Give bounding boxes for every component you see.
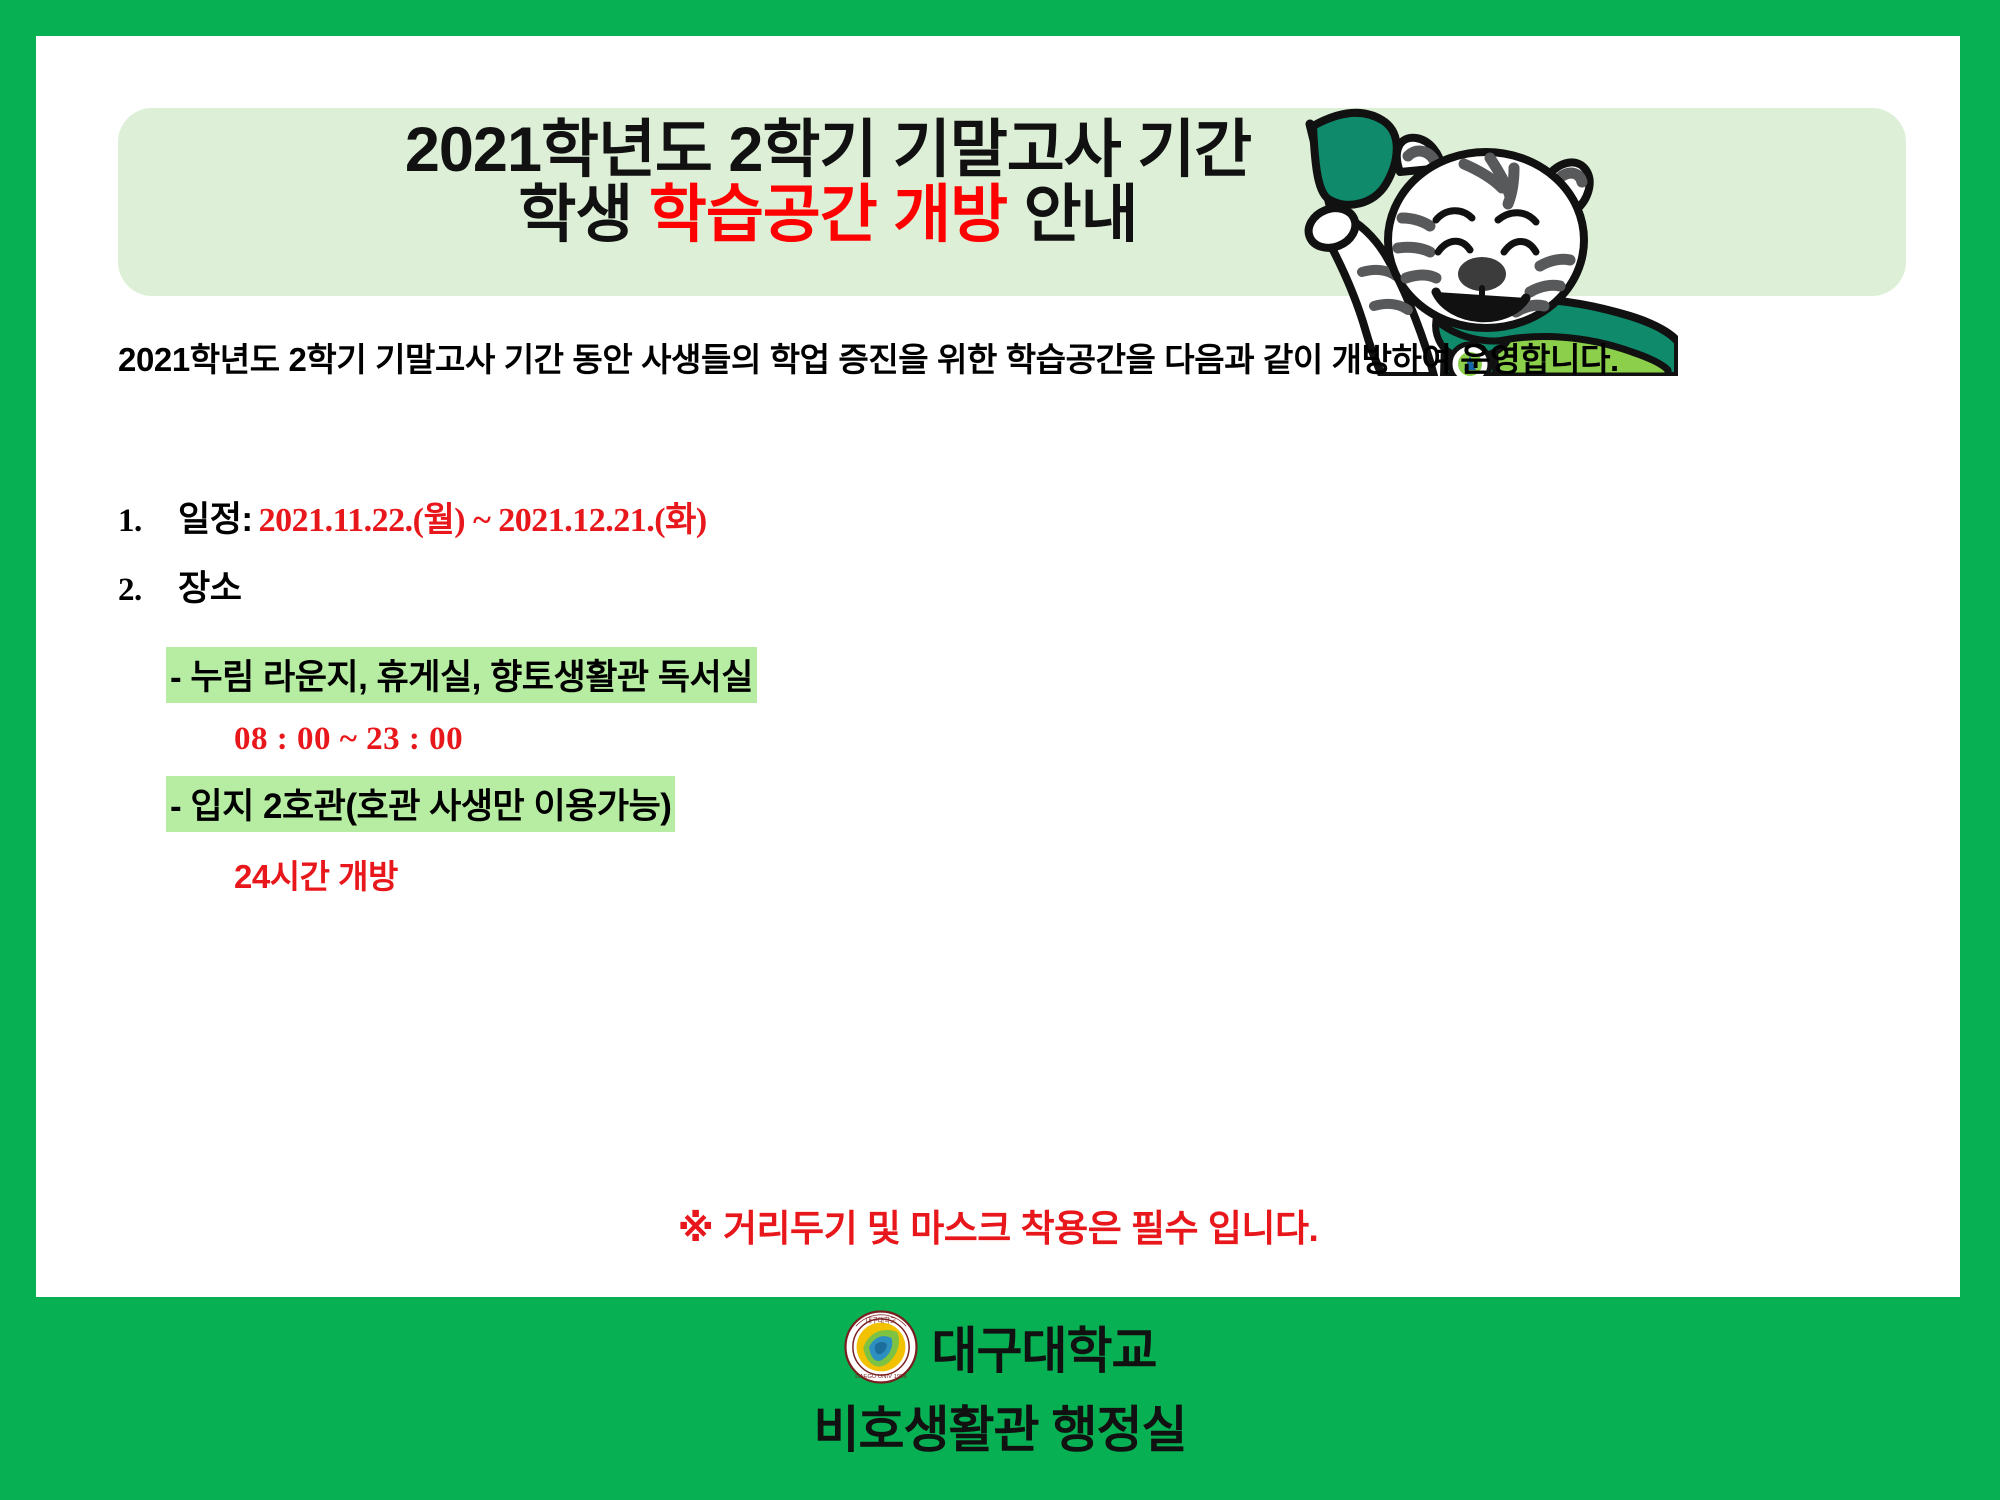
- schedule-label: 일정:: [178, 491, 253, 542]
- title-line-2-suffix: 안내: [1007, 180, 1137, 250]
- title-text-block: 2021학년도 2학기 기말고사 기간 학생 학습공간 개방 안내: [118, 118, 1538, 248]
- poster-root: 2021학년도 2학기 기말고사 기간 학생 학습공간 개방 안내: [0, 0, 2000, 1500]
- content-panel: 2021학년도 2학기 기말고사 기간 학생 학습공간 개방 안내: [36, 36, 1960, 1297]
- daegu-university-logo-icon: 대구대학교 DAEGU UNIV 1956: [844, 1310, 918, 1384]
- place-hours-1: 08 : 00 ~ 23 : 00: [234, 721, 1618, 758]
- list-number-2: 2.: [118, 572, 178, 609]
- title-line-2-highlight: 학습공간 개방: [649, 180, 1007, 250]
- footer: 대구대학교 DAEGU UNIV 1956 대구대학교 비호생활관 행정실: [0, 1310, 2000, 1462]
- list-number-1: 1.: [118, 503, 178, 540]
- place-name-1: - 누림 라운지, 휴게실, 향토생활관 독서실: [166, 647, 757, 703]
- list-item-place: 2. 장소: [118, 560, 1618, 611]
- footer-university-row: 대구대학교 DAEGU UNIV 1956 대구대학교: [0, 1310, 2000, 1384]
- title-line-2-prefix: 학생: [518, 180, 648, 250]
- title-line-1: 2021학년도 2학기 기말고사 기간: [118, 118, 1538, 183]
- place-entry-1: - 누림 라운지, 휴게실, 향토생활관 독서실 08 : 00 ~ 23 : …: [166, 629, 1618, 758]
- place-entry-2: - 입지 2호관(호관 사생만 이용가능) 24시간 개방: [166, 758, 1618, 898]
- footer-university-name: 대구대학교: [932, 1311, 1157, 1383]
- title-line-2: 학생 학습공간 개방 안내: [118, 183, 1538, 248]
- place-name-2: - 입지 2호관(호관 사생만 이용가능): [166, 776, 675, 832]
- intro-paragraph: 2021학년도 2학기 기말고사 기간 동안 사생들의 학업 증진을 위한 학습…: [118, 331, 1818, 390]
- logo-top-text: 대구대학교: [865, 1316, 896, 1325]
- place-hours-2: 24시간 개방: [234, 850, 1618, 898]
- safety-notice: ※ 거리두기 및 마스크 착용은 필수 입니다.: [36, 1198, 1960, 1252]
- logo-bottom-text: DAEGU UNIV 1956: [855, 1374, 907, 1380]
- list-item-schedule: 1. 일정: 2021.11.22.(월) ~ 2021.12.21.(화): [118, 491, 1618, 542]
- detail-list: 1. 일정: 2021.11.22.(월) ~ 2021.12.21.(화) 2…: [118, 491, 1618, 898]
- title-banner: 2021학년도 2학기 기말고사 기간 학생 학습공간 개방 안내: [118, 108, 1906, 296]
- footer-department-name: 비호생활관 행정실: [0, 1390, 2000, 1462]
- schedule-dates: 2021.11.22.(월) ~ 2021.12.21.(화): [259, 492, 707, 541]
- place-label: 장소: [178, 560, 241, 611]
